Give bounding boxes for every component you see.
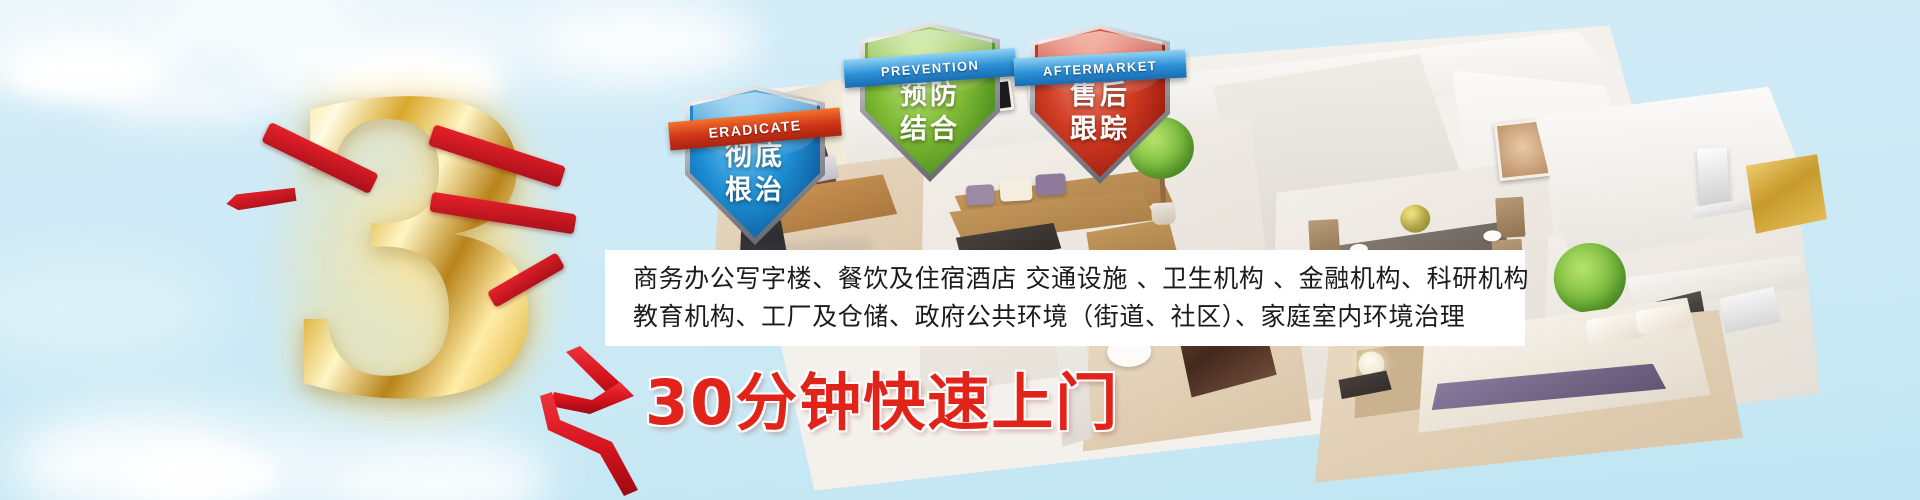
badge-chinese-line2: 结合 [860,114,1000,145]
badge-prevention: 预防 结合 PREVENTION [860,22,1000,182]
headline-text: 30分钟快速上门 [645,352,1119,442]
service-scope-line-1: 商务办公写字楼、餐饮及住宿酒店 交通设施 、卫生机构 、金融机构、科研机构 [633,260,1525,298]
badge-eradicate: 彻底 根治 ERADICATE [685,85,825,245]
badge-chinese-line2: 跟踪 [1030,114,1170,145]
badge-english-label: PREVENTION [880,57,979,79]
service-scope-panel: 商务办公写字楼、餐饮及住宿酒店 交通设施 、卫生机构 、金融机构、科研机构 教育… [605,250,1525,346]
promo-banner: 3 彻底 根治 ERADICATE [0,0,1920,500]
badge-chinese-line1: 售后 [1030,80,1170,111]
badge-english-label: ERADICATE [708,117,802,141]
badge-english-label: AFTERMARKET [1043,58,1158,79]
badge-aftermarket: 售后 跟踪 AFTERMARKET [1030,24,1170,184]
badge-chinese-line2: 根治 [685,175,825,206]
service-scope-line-2: 教育机构、工厂及仓储、政府公共环境（街道、社区）、家庭室内环境治理 [633,298,1525,336]
